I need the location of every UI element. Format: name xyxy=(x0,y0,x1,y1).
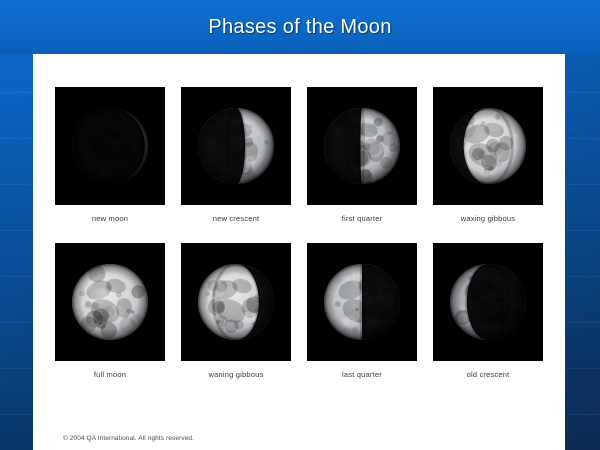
moon-phase-label: waning gibbous xyxy=(209,370,264,379)
moon-image-new-crescent xyxy=(181,87,291,205)
moon-image-first-quarter xyxy=(307,87,417,205)
moon-phase-cell[interactable]: old crescent xyxy=(433,243,543,379)
moon-phase-label: waxing gibbous xyxy=(461,214,516,223)
moon-phase-row: new moon new crescent first quarter waxi… xyxy=(33,87,565,223)
moon-image-last-quarter xyxy=(307,243,417,361)
slide: Phases of the Moon new moon new crescent… xyxy=(0,0,600,450)
title-bar: Phases of the Moon xyxy=(0,0,600,54)
moon-phase-grid: new moon new crescent first quarter waxi… xyxy=(33,54,565,399)
moon-phase-cell[interactable]: new crescent xyxy=(181,87,291,223)
moon-phase-cell[interactable]: full moon xyxy=(55,243,165,379)
moon-phase-cell[interactable]: last quarter xyxy=(307,243,417,379)
moon-phase-label: new crescent xyxy=(213,214,260,223)
page-title: Phases of the Moon xyxy=(208,16,391,39)
moon-phase-label: last quarter xyxy=(342,370,382,379)
moon-phase-label: new moon xyxy=(92,214,128,223)
content-panel: new moon new crescent first quarter waxi… xyxy=(33,54,565,450)
moon-phase-cell[interactable]: waning gibbous xyxy=(181,243,291,379)
moon-image-waning-gibbous xyxy=(181,243,291,361)
moon-image-new-moon xyxy=(55,87,165,205)
moon-phase-label: first quarter xyxy=(342,214,383,223)
moon-image-old-crescent xyxy=(433,243,543,361)
moon-phase-cell[interactable]: first quarter xyxy=(307,87,417,223)
moon-phase-label: old crescent xyxy=(467,370,510,379)
moon-phase-cell[interactable]: waxing gibbous xyxy=(433,87,543,223)
moon-phase-cell[interactable]: new moon xyxy=(55,87,165,223)
copyright-notice: © 2004 QA International. All rights rese… xyxy=(63,435,194,442)
moon-image-full-moon xyxy=(55,243,165,361)
moon-phase-row: full moon waning gibbous last quarter ol… xyxy=(33,243,565,379)
moon-image-waxing-gibbous xyxy=(433,87,543,205)
moon-phase-label: full moon xyxy=(94,370,126,379)
